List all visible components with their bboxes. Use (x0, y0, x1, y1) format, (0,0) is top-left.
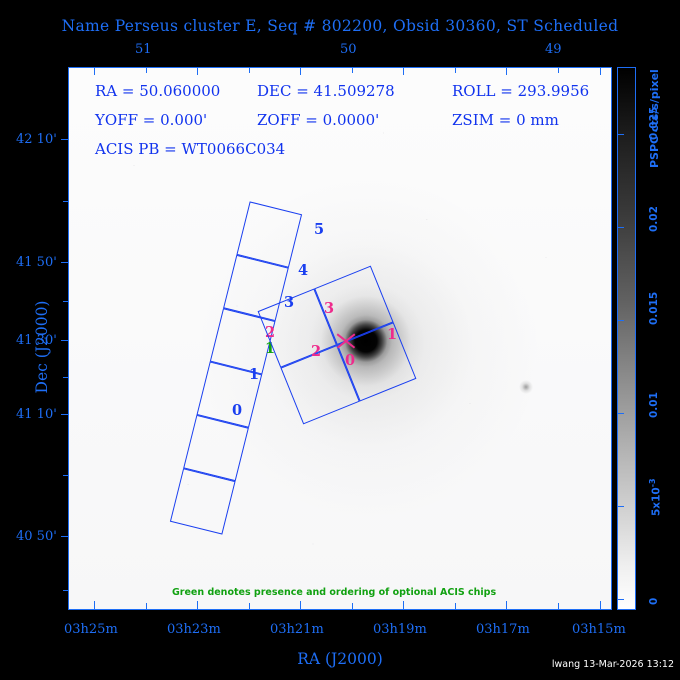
chip-label-i3: 3 (324, 300, 334, 317)
tick-top (146, 68, 147, 73)
colorbar-tick-5: 0 (648, 598, 660, 605)
colorbar-tick-mark (617, 506, 624, 507)
tick-bottom (403, 601, 404, 609)
x-tick-top-2: 49 (545, 42, 562, 57)
dec-value: DEC = 41.509278 (257, 82, 395, 100)
x-tick-top-0: 51 (135, 42, 152, 57)
chip-label-i2: 2 (311, 343, 321, 360)
zoff-value: ZOFF = 0.0000' (257, 111, 379, 129)
chip-label-s5: 5 (314, 221, 324, 238)
sky-field-plot[interactable]: RA = 50.060000 DEC = 41.509278 ROLL = 29… (68, 67, 612, 610)
tick-left (61, 340, 69, 341)
colorbar-tick-3: 0.01 (648, 392, 660, 418)
colorbar-tick-mark (617, 599, 624, 600)
tick-bottom (600, 601, 601, 609)
zsim-value: ZSIM = 0 mm (452, 111, 559, 129)
colorbar-tick-4-exponent: -3 (648, 478, 657, 487)
acis-pb-value: ACIS PB = WT0066C034 (95, 140, 285, 158)
page-title: Name Perseus cluster E, Seq # 802200, Ob… (0, 17, 680, 35)
tick-left (63, 201, 69, 202)
tick-left (63, 590, 69, 591)
x-tick-1: 03h23m (167, 622, 221, 637)
colorbar-tick-2: 0.015 (648, 292, 660, 325)
tick-bottom (146, 603, 147, 609)
chip-label-i0: 0 (345, 352, 355, 369)
tick-top (403, 68, 404, 75)
ra-value: RA = 50.060000 (95, 82, 220, 100)
tick-left (61, 262, 69, 263)
tick-bottom (558, 603, 559, 609)
tick-left (61, 414, 69, 415)
chip-label-s4: 4 (298, 262, 308, 279)
chip-label-s1: 1 (249, 366, 259, 383)
tick-top (600, 68, 601, 75)
tick-left (61, 536, 69, 537)
roll-value: ROLL = 293.9956 (452, 82, 589, 100)
y-axis-title: Dec (J2000) (33, 277, 51, 417)
optional-chip-note: Green denotes presence and ordering of o… (172, 587, 496, 598)
tick-top (300, 68, 301, 75)
tick-left (63, 475, 69, 476)
tick-left (63, 301, 69, 302)
render-timestamp: lwang 13-Mar-2026 13:12 (552, 659, 674, 670)
tick-bottom (197, 601, 198, 609)
obsvis-window: Name Perseus cluster E, Seq # 802200, Ob… (0, 0, 680, 680)
x-tick-0: 03h25m (64, 622, 118, 637)
tick-top (249, 68, 250, 73)
x-tick-2: 03h21m (270, 622, 324, 637)
tick-bottom (94, 601, 95, 609)
tick-top (352, 68, 353, 73)
chip-label-s0: 0 (232, 402, 242, 419)
colorbar-tick-mark (617, 134, 624, 135)
tick-left (63, 377, 69, 378)
tick-top (94, 68, 95, 75)
y-tick-0: 42 10' (16, 132, 57, 147)
tick-bottom (352, 603, 353, 609)
aimpoint-marker-icon (335, 330, 357, 352)
tick-top (558, 68, 559, 73)
tick-top (506, 68, 507, 75)
colorbar-tick-4: 5x10-3 (648, 478, 663, 516)
tick-top (455, 68, 456, 73)
colorbar-tick-4-mantissa: 5x10 (651, 487, 663, 516)
yoff-value: YOFF = 0.000' (95, 111, 207, 129)
colorbar (617, 67, 636, 610)
tick-bottom (506, 601, 507, 609)
tick-bottom (300, 601, 301, 609)
colorbar-tick-mark (617, 413, 624, 414)
colorbar-tick-mark (617, 320, 624, 321)
tick-top (197, 68, 198, 75)
tick-bottom (249, 603, 250, 609)
tick-bottom (455, 603, 456, 609)
y-tick-1: 41 50' (16, 255, 57, 270)
tick-left (61, 139, 69, 140)
colorbar-tick-0: 0.025 (648, 107, 660, 140)
x-tick-5: 03h15m (572, 622, 626, 637)
x-tick-4: 03h17m (476, 622, 530, 637)
colorbar-tick-1: 0.02 (648, 206, 660, 232)
chip-label-i1: 1 (387, 326, 397, 343)
y-tick-4: 40 50' (16, 529, 57, 544)
colorbar-tick-mark (617, 227, 624, 228)
x-tick-3: 03h19m (373, 622, 427, 637)
x-tick-top-1: 50 (340, 42, 357, 57)
